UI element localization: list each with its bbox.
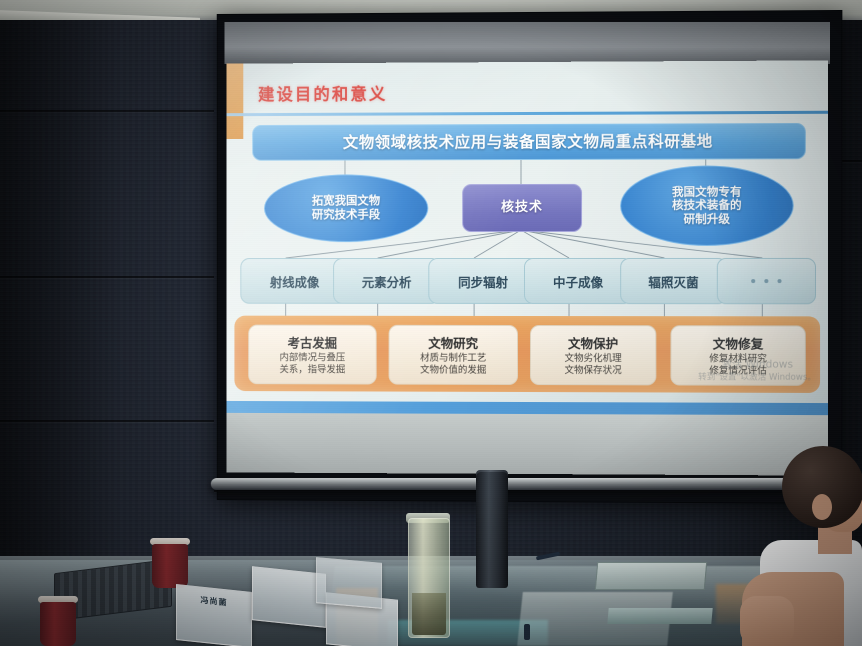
presentation-slide: 建设目的和意义 文物领域核技术应用与装备国家 [227,60,829,415]
node-right-line3: 研制升级 [672,212,742,226]
projector-screen-top-band [225,22,831,64]
name-placard [252,566,326,628]
application-card: 文物研究 材质与制作工艺 文物价值的发掘 [389,325,518,385]
attendee-hand [740,596,794,646]
conference-room-scene: 建设目的和意义 文物领域核技术应用与装备国家 [0,0,862,646]
diagram-node-right: 我国文物专有 核技术装备的 研制升级 [620,165,794,246]
notebook [595,562,707,590]
watermark-line2: 转到"设置"以激活 Windows。 [698,372,816,383]
watermark-line1: 激活 Windows [698,358,816,372]
diagram-root-node: 文物领域核技术应用与装备国家文物局重点科研基地 [252,123,806,161]
diagram-node-left: 拓宽我国文物 研究技术手段 [264,174,428,242]
technique-item-ellipsis [717,258,816,304]
technique-item: 元素分析 [333,258,440,304]
application-title: 考古发掘 [288,332,337,351]
application-title: 文物保护 [568,333,618,352]
projector-screen-bottom-bar [211,478,847,490]
technique-item: 辐照灭菌 [620,258,727,304]
application-title: 文物研究 [428,333,478,352]
application-line2: 文物价值的发掘 [420,365,486,377]
tea-jar [408,518,450,638]
wall-shadow-left [0,20,120,580]
application-line1: 内部情况与叠压 [279,352,345,364]
application-card: 文物保护 文物劣化机理 文物保存状况 [530,325,656,385]
name-placard: 冯尚菌 [176,584,252,646]
attendee-ear [812,494,832,520]
tea-leaves [412,593,446,635]
screen-blank-area [227,413,829,476]
paper-cup [40,602,76,646]
technique-item: 中子成像 [524,258,632,304]
application-line1: 材质与制作工艺 [420,353,486,365]
technique-item: 同步辐射 [428,258,538,304]
thermos [476,472,508,588]
notebook-secondary [607,608,712,624]
ellipsis-dots-icon [751,279,781,283]
application-line1: 文物劣化机理 [564,353,621,365]
name-placard [316,557,382,609]
projector-screen-surface: 建设目的和意义 文物领域核技术应用与装备国家 [227,60,829,475]
diagram-node-center: 核技术 [462,184,582,232]
node-left-line2: 研究技术手段 [312,208,380,222]
windows-activation-watermark: 激活 Windows 转到"设置"以激活 Windows。 [698,358,816,383]
node-right-line2: 核技术装备的 [672,199,742,213]
application-line2: 关系，指导发掘 [279,364,345,376]
application-title: 文物修复 [713,333,764,352]
application-line2: 文物保存状况 [564,365,621,377]
technique-row: 射线成像 元素分析 同步辐射 中子成像 辐照灭菌 [234,258,820,302]
pen [524,624,530,640]
paper-cup [152,544,188,588]
application-card: 考古发掘 内部情况与叠压 关系，指导发掘 [248,325,376,385]
